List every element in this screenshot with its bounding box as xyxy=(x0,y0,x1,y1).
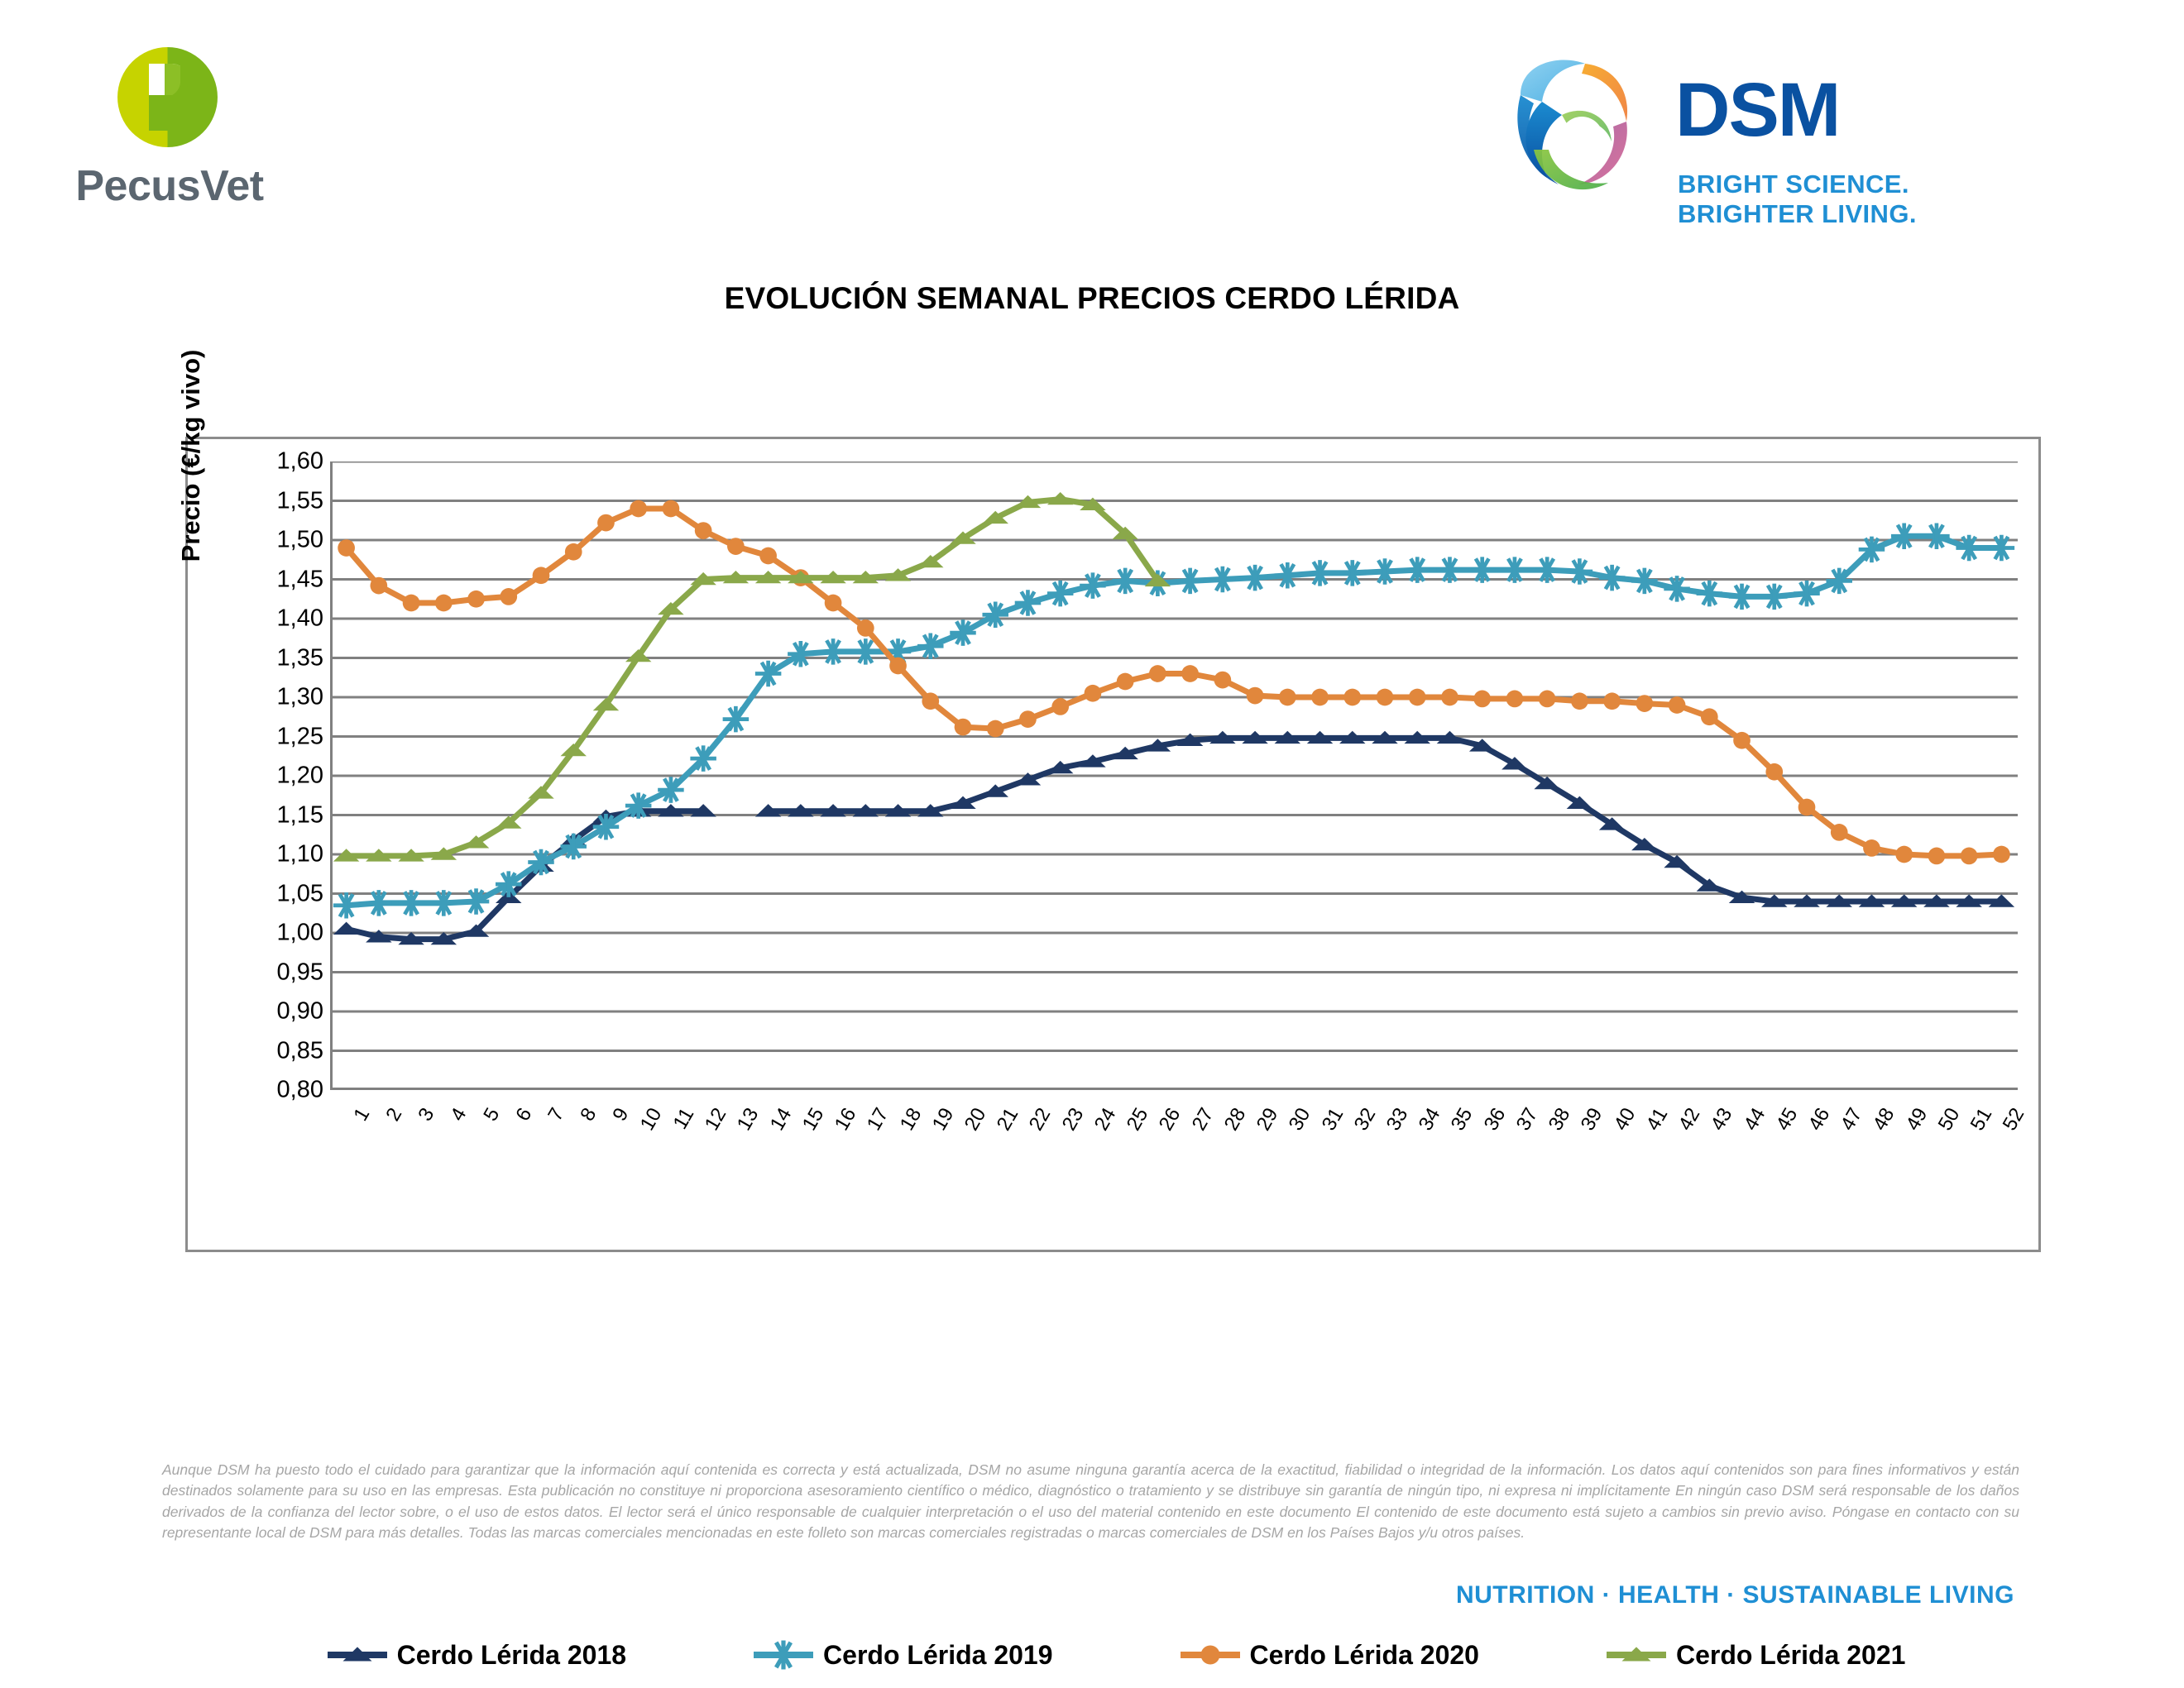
legend-marker-icon xyxy=(752,1638,815,1671)
chart-legend: Cerdo Lérida 2018Cerdo Lérida 2019Cerdo … xyxy=(188,1622,2043,1688)
data-point-marker xyxy=(1117,673,1134,691)
data-point-marker xyxy=(597,514,615,532)
data-point-marker xyxy=(1729,584,1755,610)
data-point-marker xyxy=(1377,689,1394,706)
x-tick-label: 39 xyxy=(1577,1104,1608,1135)
data-point-marker xyxy=(922,692,939,710)
x-tick-label: 19 xyxy=(927,1104,959,1135)
dsm-tagline: BRIGHT SCIENCE. BRIGHTER LIVING. xyxy=(1678,170,2035,229)
x-tick-label: 44 xyxy=(1739,1104,1770,1135)
y-tick-label: 0,95 xyxy=(232,960,323,984)
legend-item[interactable]: Cerdo Lérida 2018 xyxy=(326,1638,626,1671)
data-point-marker xyxy=(1697,581,1723,607)
y-tick-label: 1,60 xyxy=(232,450,323,474)
x-tick-label: 51 xyxy=(1966,1104,1998,1135)
data-point-marker xyxy=(917,634,944,660)
data-point-marker xyxy=(788,641,814,667)
series-svg xyxy=(330,461,2018,1090)
data-point-marker xyxy=(1895,846,1913,863)
legend-label: Cerdo Lérida 2018 xyxy=(397,1640,626,1671)
legend-marker-icon xyxy=(1605,1638,1668,1671)
x-tick-label: 41 xyxy=(1641,1104,1673,1135)
x-tick-label: 11 xyxy=(668,1104,699,1134)
data-point-marker xyxy=(565,543,582,561)
x-tick-label: 28 xyxy=(1219,1104,1251,1135)
x-tick-label: 20 xyxy=(960,1104,992,1135)
data-point-marker xyxy=(1571,692,1588,710)
legend-label: Cerdo Lérida 2020 xyxy=(1250,1640,1479,1671)
data-point-marker xyxy=(500,588,517,605)
y-tick-label: 1,30 xyxy=(232,686,323,710)
pecusvet-wordmark: PecusVet xyxy=(33,161,306,211)
x-tick-label: 24 xyxy=(1090,1104,1122,1135)
x-tick-label: 14 xyxy=(765,1104,797,1135)
x-tick-label: 21 xyxy=(993,1104,1024,1135)
data-point-marker xyxy=(1085,685,1102,702)
legend-label: Cerdo Lérida 2021 xyxy=(1676,1640,1905,1671)
data-point-marker xyxy=(333,892,360,919)
data-point-marker xyxy=(630,500,647,518)
x-tick-label: 50 xyxy=(1934,1104,1966,1135)
data-point-marker xyxy=(1831,824,1848,841)
data-point-marker xyxy=(1539,691,1556,708)
data-point-marker xyxy=(1181,665,1199,682)
x-axis-tick-labels: 1234567891011121314151617181920212223242… xyxy=(330,1101,2018,1175)
footer-tagline: NUTRITION · HEALTH · SUSTAINABLE LIVING xyxy=(1456,1581,2014,1609)
x-tick-label: 52 xyxy=(1999,1104,2030,1135)
y-axis-title: Precio (€/kg vivo) xyxy=(176,282,206,629)
data-point-marker xyxy=(987,720,1004,738)
data-point-marker xyxy=(1409,689,1426,706)
series-cerdo-lérida-2019 xyxy=(333,524,2014,919)
y-axis-tick-labels: 1,601,551,501,451,401,351,301,251,201,15… xyxy=(231,439,323,1109)
data-point-marker xyxy=(1247,687,1264,705)
data-point-marker xyxy=(1989,535,2015,562)
y-tick-label: 1,50 xyxy=(232,528,323,552)
data-point-marker xyxy=(759,548,777,565)
data-point-marker xyxy=(467,591,485,608)
data-point-marker xyxy=(1669,696,1686,714)
x-tick-label: 10 xyxy=(635,1104,667,1135)
series-cerdo-lérida-2020 xyxy=(338,500,2009,865)
y-tick-label: 1,25 xyxy=(232,724,323,748)
data-point-marker xyxy=(1051,698,1069,715)
legend-marker-icon xyxy=(1179,1638,1242,1671)
x-tick-label: 32 xyxy=(1349,1104,1381,1135)
x-tick-label: 6 xyxy=(511,1104,537,1126)
data-point-marker xyxy=(1307,560,1334,586)
y-tick-label: 0,85 xyxy=(232,1039,323,1063)
chart-container: Precio (€/kg vivo) 1,601,551,501,451,401… xyxy=(185,437,2041,1252)
y-tick-label: 1,00 xyxy=(232,921,323,945)
x-tick-label: 45 xyxy=(1771,1104,1803,1135)
data-point-marker xyxy=(1242,565,1268,591)
disclaimer-text: Aunque DSM ha puesto todo el cuidado par… xyxy=(162,1460,2019,1544)
y-tick-label: 1,35 xyxy=(232,646,323,670)
data-point-marker xyxy=(1080,572,1106,599)
data-point-marker xyxy=(769,1641,798,1670)
data-point-marker xyxy=(1506,691,1524,708)
data-point-marker xyxy=(1923,524,1950,550)
x-tick-label: 16 xyxy=(831,1104,862,1135)
x-tick-label: 8 xyxy=(577,1104,602,1126)
data-point-marker xyxy=(1599,565,1626,591)
x-tick-label: 40 xyxy=(1609,1104,1640,1135)
data-point-marker xyxy=(1214,672,1231,689)
data-point-marker xyxy=(1928,848,1946,865)
x-tick-label: 26 xyxy=(1155,1104,1186,1135)
x-tick-label: 2 xyxy=(381,1104,407,1126)
x-tick-label: 5 xyxy=(479,1104,505,1126)
series-cerdo-lérida-2021 xyxy=(333,492,1171,862)
x-tick-label: 30 xyxy=(1285,1104,1316,1135)
data-point-marker xyxy=(1636,695,1653,712)
x-tick-label: 13 xyxy=(733,1104,764,1135)
data-point-marker xyxy=(1275,562,1301,589)
x-tick-label: 29 xyxy=(1252,1104,1284,1135)
plot-area xyxy=(330,461,2018,1090)
data-point-marker xyxy=(982,602,1008,629)
data-point-marker xyxy=(1863,839,1880,857)
y-tick-label: 1,45 xyxy=(232,567,323,591)
data-point-marker xyxy=(727,538,745,555)
y-tick-label: 1,15 xyxy=(232,803,323,827)
x-tick-label: 37 xyxy=(1512,1104,1544,1135)
data-point-marker xyxy=(1149,665,1166,682)
data-point-marker xyxy=(1200,1646,1219,1665)
dsm-wordmark: DSM xyxy=(1675,72,1839,148)
x-tick-label: 43 xyxy=(1707,1104,1738,1135)
data-point-marker xyxy=(560,744,587,756)
x-tick-label: 22 xyxy=(1025,1104,1056,1135)
data-point-marker xyxy=(1279,689,1296,706)
x-tick-label: 38 xyxy=(1545,1104,1576,1135)
x-tick-label: 17 xyxy=(863,1104,894,1135)
data-point-marker xyxy=(1733,732,1751,749)
data-point-marker xyxy=(370,577,387,595)
data-point-marker xyxy=(889,658,907,675)
data-point-marker xyxy=(1047,581,1074,607)
y-tick-label: 1,05 xyxy=(232,882,323,906)
x-tick-label: 3 xyxy=(414,1104,439,1126)
data-point-marker xyxy=(1473,691,1491,708)
data-point-marker xyxy=(435,595,453,612)
data-point-marker xyxy=(1961,848,1978,865)
data-point-marker xyxy=(1761,584,1788,610)
x-tick-label: 15 xyxy=(797,1104,829,1135)
data-point-marker xyxy=(1993,846,2010,863)
chart-title: EVOLUCIÓN SEMANAL PRECIOS CERDO LÉRIDA xyxy=(0,281,2184,316)
x-tick-label: 25 xyxy=(1123,1104,1154,1135)
x-tick-label: 36 xyxy=(1479,1104,1511,1135)
x-tick-label: 47 xyxy=(1837,1104,1868,1135)
data-point-marker xyxy=(1372,558,1398,585)
x-tick-label: 49 xyxy=(1901,1104,1933,1135)
data-point-marker xyxy=(1019,710,1037,728)
data-point-marker xyxy=(560,834,587,860)
data-point-marker xyxy=(1015,590,1042,616)
data-point-marker xyxy=(463,924,490,936)
data-point-marker xyxy=(1209,567,1236,593)
x-tick-label: 33 xyxy=(1382,1104,1414,1135)
data-point-marker xyxy=(1339,560,1366,586)
x-tick-label: 12 xyxy=(701,1104,732,1135)
y-tick-label: 0,90 xyxy=(232,1000,323,1024)
x-tick-label: 4 xyxy=(447,1104,472,1126)
legend-item[interactable]: Cerdo Lérida 2020 xyxy=(1179,1638,1479,1671)
data-point-marker xyxy=(1798,799,1816,816)
legend-item[interactable]: Cerdo Lérida 2021 xyxy=(1605,1638,1905,1671)
data-point-marker xyxy=(1441,689,1458,706)
data-point-marker xyxy=(1112,568,1138,595)
data-point-marker xyxy=(1567,558,1593,585)
data-point-marker xyxy=(338,539,355,557)
data-point-marker xyxy=(533,567,550,584)
x-tick-label: 23 xyxy=(1057,1104,1089,1135)
x-tick-label: 1 xyxy=(349,1104,375,1126)
data-point-marker xyxy=(663,500,680,518)
x-tick-label: 35 xyxy=(1447,1104,1478,1135)
x-tick-label: 7 xyxy=(544,1104,569,1126)
x-tick-label: 31 xyxy=(1317,1104,1348,1135)
x-tick-label: 46 xyxy=(1804,1104,1836,1135)
y-tick-label: 1,20 xyxy=(232,764,323,788)
y-tick-label: 0,80 xyxy=(232,1078,323,1102)
data-point-marker xyxy=(950,619,976,646)
y-tick-label: 1,40 xyxy=(232,607,323,631)
pecusvet-p-logo-icon xyxy=(116,45,219,149)
x-tick-label: 18 xyxy=(895,1104,927,1135)
data-point-marker xyxy=(463,888,490,915)
x-tick-label: 9 xyxy=(609,1104,635,1126)
x-tick-label: 34 xyxy=(1415,1104,1446,1135)
data-point-marker xyxy=(1343,689,1361,706)
legend-item[interactable]: Cerdo Lérida 2019 xyxy=(752,1638,1052,1671)
data-point-marker xyxy=(1603,692,1621,710)
y-tick-label: 1,55 xyxy=(232,489,323,513)
x-tick-label: 27 xyxy=(1187,1104,1219,1135)
data-point-marker xyxy=(1311,689,1329,706)
legend-marker-icon xyxy=(326,1638,389,1671)
data-point-marker xyxy=(1701,708,1718,725)
y-tick-label: 1,10 xyxy=(232,843,323,867)
data-point-marker xyxy=(1177,568,1204,595)
data-point-marker xyxy=(625,649,652,662)
data-point-marker xyxy=(1794,581,1820,607)
data-point-marker xyxy=(1765,763,1783,781)
dsm-swirl-logo-icon xyxy=(1506,52,1667,201)
data-point-marker xyxy=(593,698,620,710)
data-point-marker xyxy=(1956,535,1982,562)
data-point-marker xyxy=(1891,524,1918,550)
data-point-marker xyxy=(857,619,874,637)
data-point-marker xyxy=(403,595,420,612)
data-point-marker xyxy=(820,638,846,665)
legend-label: Cerdo Lérida 2019 xyxy=(823,1640,1052,1671)
data-point-marker xyxy=(528,786,554,798)
data-point-marker xyxy=(333,922,360,935)
data-point-marker xyxy=(1631,568,1658,595)
data-point-marker xyxy=(825,595,842,612)
data-point-marker xyxy=(695,522,712,539)
data-point-marker xyxy=(955,719,972,736)
dsm-logo: DSM BRIGHT SCIENCE. BRIGHTER LIVING. xyxy=(1506,45,2035,211)
pecusvet-logo: PecusVet xyxy=(33,45,306,236)
x-tick-label: 48 xyxy=(1869,1104,1900,1135)
page-header: PecusVet xyxy=(0,0,2184,248)
x-tick-label: 42 xyxy=(1674,1104,1706,1135)
